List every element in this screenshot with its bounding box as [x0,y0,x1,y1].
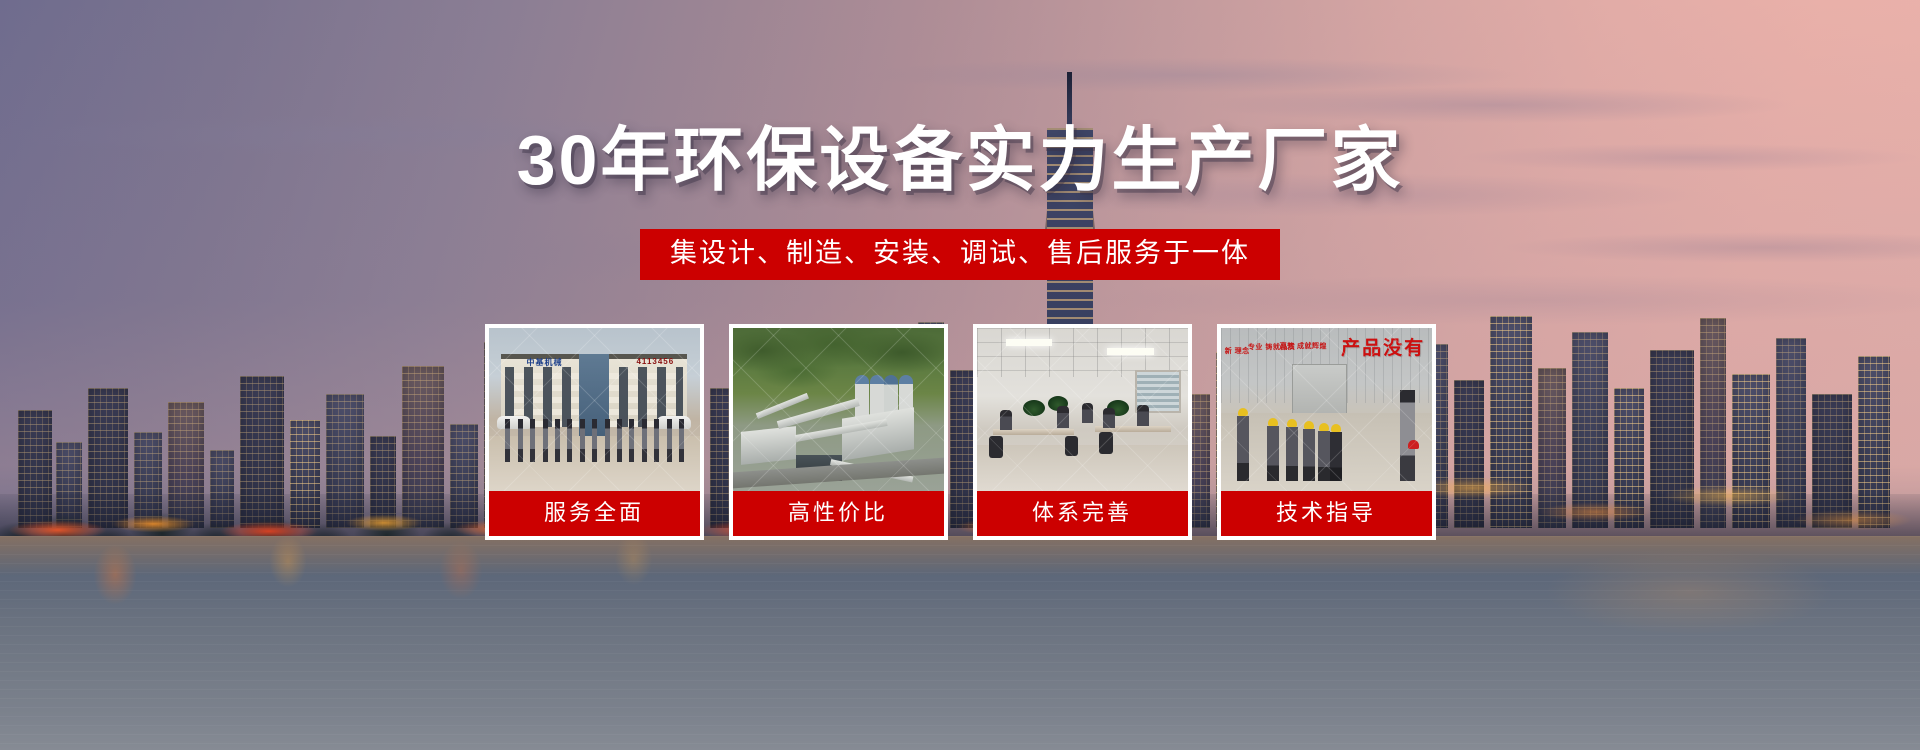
factory-slogan-left: 新 理念 [1225,348,1250,356]
feature-card-label: 技术指导 [1221,491,1432,536]
photo-logo-text: 中基机械 [526,357,562,368]
feature-card-label: 体系完善 [977,491,1188,536]
photo-phone-text: 4113456 [636,357,674,366]
feature-card[interactable]: 高性价比 [729,324,948,540]
feature-card-label: 服务全面 [489,491,700,536]
feature-card-label: 高性价比 [733,491,944,536]
factory-banner-text: 产品没有 [1341,333,1425,360]
factory-yard-workers-photo: 产品没有 新 理念 专业 铸就品质 高效 成就辉煌 [1221,328,1432,491]
feature-card-list: 中基机械 4113456 服务全面 [485,324,1436,540]
company-building-staff-photo: 中基机械 4113456 [489,328,700,491]
aerial-industrial-plant-photo [733,328,944,491]
factory-slogan-right: 高效 成就辉煌 [1280,343,1327,351]
banner-headline: 30年环保设备实力生产厂家 [517,104,1404,205]
hero-banner: 30年环保设备实力生产厂家 集设计、制造、安装、调试、售后服务于一体 中基机械 … [0,0,1920,750]
banner-content: 30年环保设备实力生产厂家 集设计、制造、安装、调试、售后服务于一体 中基机械 … [0,0,1920,750]
feature-card[interactable]: 体系完善 [973,324,1192,540]
feature-card[interactable]: 产品没有 新 理念 专业 铸就品质 高效 成就辉煌 技术指导 [1217,324,1436,540]
office-interior-staff-photo [977,328,1188,491]
banner-subtitle-bar: 集设计、制造、安装、调试、售后服务于一体 [640,229,1280,280]
feature-card[interactable]: 中基机械 4113456 服务全面 [485,324,704,540]
